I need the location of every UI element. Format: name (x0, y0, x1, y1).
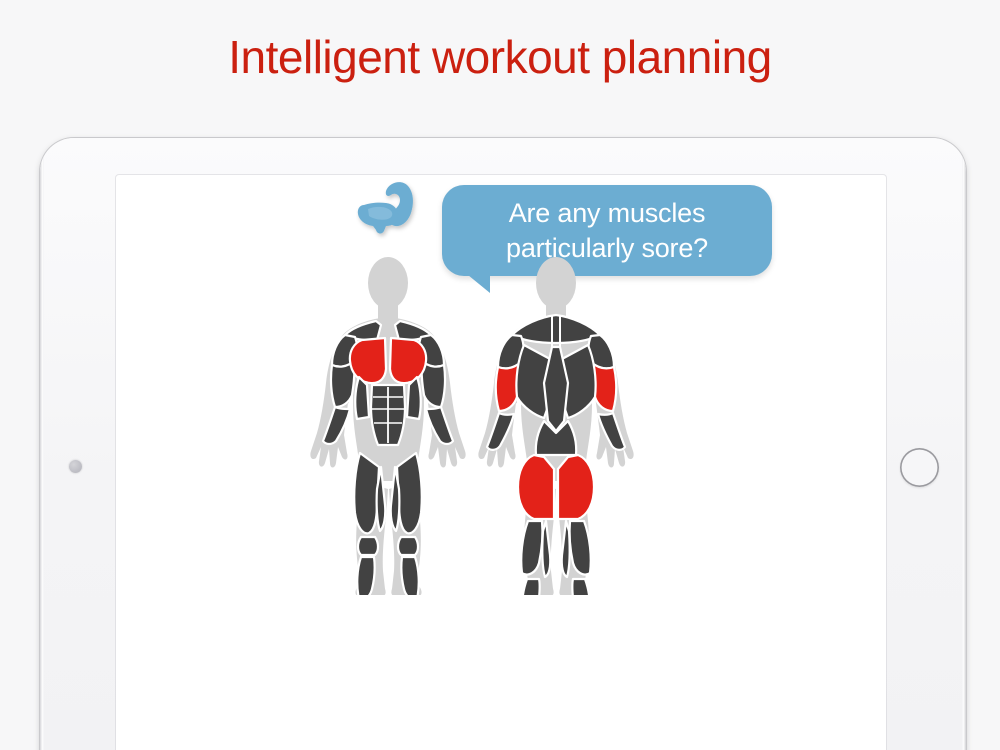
camera-dot-icon (69, 460, 82, 473)
flexed-biceps-icon (356, 179, 424, 243)
tablet-screen: Are any muscles particularly sore? (116, 175, 886, 750)
muscle-chest-left (350, 338, 386, 383)
chat-message-line-1: Are any muscles (442, 196, 772, 231)
muscle-glute-left (518, 455, 554, 519)
home-button-icon[interactable] (900, 448, 939, 487)
page-title: Intelligent workout planning (0, 30, 1000, 84)
muscle-chest-right (390, 338, 426, 383)
app-blank-area (116, 645, 886, 750)
tablet-device: Are any muscles particularly sore? (40, 138, 966, 750)
back-muscle-group (487, 315, 625, 595)
muscle-map-front-figure[interactable] (301, 255, 476, 595)
muscle-glute-right (558, 455, 594, 519)
muscle-map-back-figure[interactable] (464, 255, 649, 595)
muscle-map-figures (116, 255, 886, 615)
screenshot-stage: Intelligent workout planning (0, 0, 1000, 750)
